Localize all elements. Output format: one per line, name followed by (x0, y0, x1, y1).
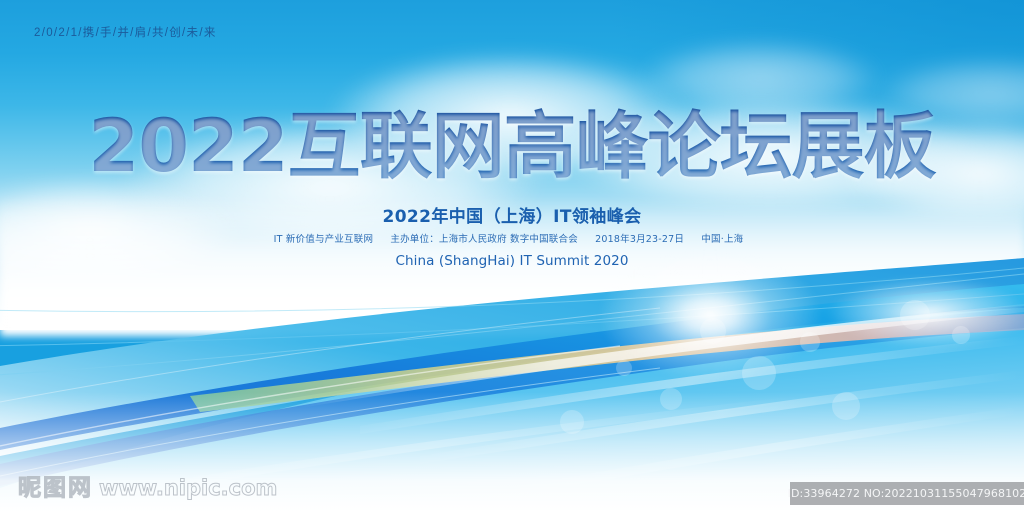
image-id-text: ID:33964272 NO:20221031155047968102 (788, 487, 1024, 500)
watermark-left: 昵图网www.nipic.com (18, 468, 277, 502)
meta-location: 中国·上海 (701, 234, 743, 245)
subtitle-text: 2022年中国（上海）IT领袖峰会 (0, 202, 1024, 227)
tagline-text: 2/0/2/1/携/手/并/肩/共/创/未/来 (34, 24, 217, 40)
watermark-url: www.nipic.com (99, 476, 277, 500)
meta-date: 2018年3月23-27日 (595, 234, 684, 245)
page-title: 2022互联网高峰论坛展板 (0, 108, 1024, 186)
poster-canvas: 2/0/2/1/携/手/并/肩/共/创/未/来 2022互联网高峰论坛展板 20… (0, 0, 1024, 512)
watermark-logo: 昵图网 (18, 475, 93, 501)
meta-line: IT 新价值与产业互联网 主办单位：上海市人民政府 数字中国联合会 2018年3… (0, 231, 1024, 245)
meta-theme: IT 新价值与产业互联网 (274, 234, 374, 245)
meta-organizer: 主办单位：上海市人民政府 数字中国联合会 (390, 234, 578, 245)
image-id-bar: ID:33964272 NO:20221031155047968102 (790, 482, 1024, 505)
english-title: China (ShangHai) IT Summit 2020 (0, 253, 1024, 269)
